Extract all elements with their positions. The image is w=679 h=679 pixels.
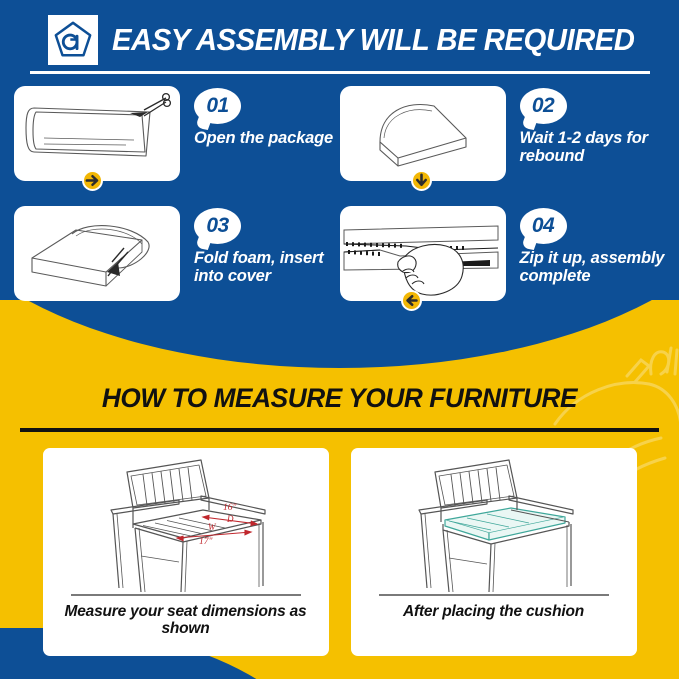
measure-panel-left: 16" D W 17" Measure your seat dimensions… bbox=[43, 448, 329, 656]
arrow-down-icon bbox=[411, 170, 432, 191]
step-label-04: Zip it up, assembly complete bbox=[520, 249, 666, 285]
step-item-02: 02 Wait 1-2 days for rebound bbox=[340, 86, 666, 201]
arrow-left-icon bbox=[401, 290, 422, 311]
step-number-03: 03 bbox=[206, 214, 228, 238]
page-title: EASY ASSEMBLY WILL BE REQUIRED bbox=[112, 23, 634, 58]
dimension-label-depth: 16" bbox=[223, 503, 238, 513]
step-label-01: Open the package bbox=[194, 129, 340, 147]
measure-section-title: HOW TO MEASURE YOUR FURNITURE bbox=[10, 383, 669, 414]
step-text-02: 02 Wait 1-2 days for rebound bbox=[520, 86, 666, 165]
chair-with-dimensions-illustration: 16" D W 17" bbox=[51, 452, 321, 592]
chair-with-cushion-illustration bbox=[359, 452, 629, 592]
cushion-foam-illustration bbox=[340, 86, 506, 181]
package-with-scissors-illustration bbox=[14, 86, 180, 181]
header-divider bbox=[30, 71, 650, 74]
measure-panels: 16" D W 17" Measure your seat dimensions… bbox=[0, 448, 679, 656]
step-number-badge-04: 04 bbox=[520, 208, 567, 244]
step-label-02: Wait 1-2 days for rebound bbox=[520, 129, 666, 165]
panel-divider-right bbox=[379, 594, 609, 596]
step-number-badge-02: 02 bbox=[520, 88, 567, 124]
step-item-01: 01 Open the package bbox=[14, 86, 340, 201]
house-pentagon-logo-icon bbox=[48, 15, 98, 65]
step-number-badge-03: 03 bbox=[194, 208, 241, 244]
dimension-label-width: 17" bbox=[199, 537, 214, 547]
panel-caption-left: Measure your seat dimensions as shown bbox=[43, 603, 329, 639]
header: EASY ASSEMBLY WILL BE REQUIRED bbox=[0, 0, 679, 80]
infographic-page: EASY ASSEMBLY WILL BE REQUIRED bbox=[0, 0, 679, 679]
measure-panel-right: After placing the cushion bbox=[351, 448, 637, 656]
step-text-01: 01 Open the package bbox=[194, 86, 340, 147]
arrow-right-icon bbox=[82, 170, 103, 191]
panel-divider-left bbox=[71, 594, 301, 596]
step-number-02: 02 bbox=[532, 94, 554, 118]
step-text-04: 04 Zip it up, assembly complete bbox=[520, 206, 666, 285]
panel-caption-right: After placing the cushion bbox=[393, 603, 594, 621]
step-number-04: 04 bbox=[532, 214, 554, 238]
step-item-04: 04 Zip it up, assembly complete bbox=[340, 206, 666, 321]
step-item-03: 03 Fold foam, insert into cover bbox=[14, 206, 340, 321]
dimension-axis-depth: D bbox=[226, 514, 234, 524]
step-text-03: 03 Fold foam, insert into cover bbox=[194, 206, 340, 285]
assembly-steps-grid: 01 Open the package bbox=[0, 86, 679, 321]
step-label-03: Fold foam, insert into cover bbox=[194, 249, 340, 285]
step-number-badge-01: 01 bbox=[194, 88, 241, 124]
step-number-01: 01 bbox=[206, 94, 228, 118]
measure-section-divider bbox=[20, 428, 659, 432]
